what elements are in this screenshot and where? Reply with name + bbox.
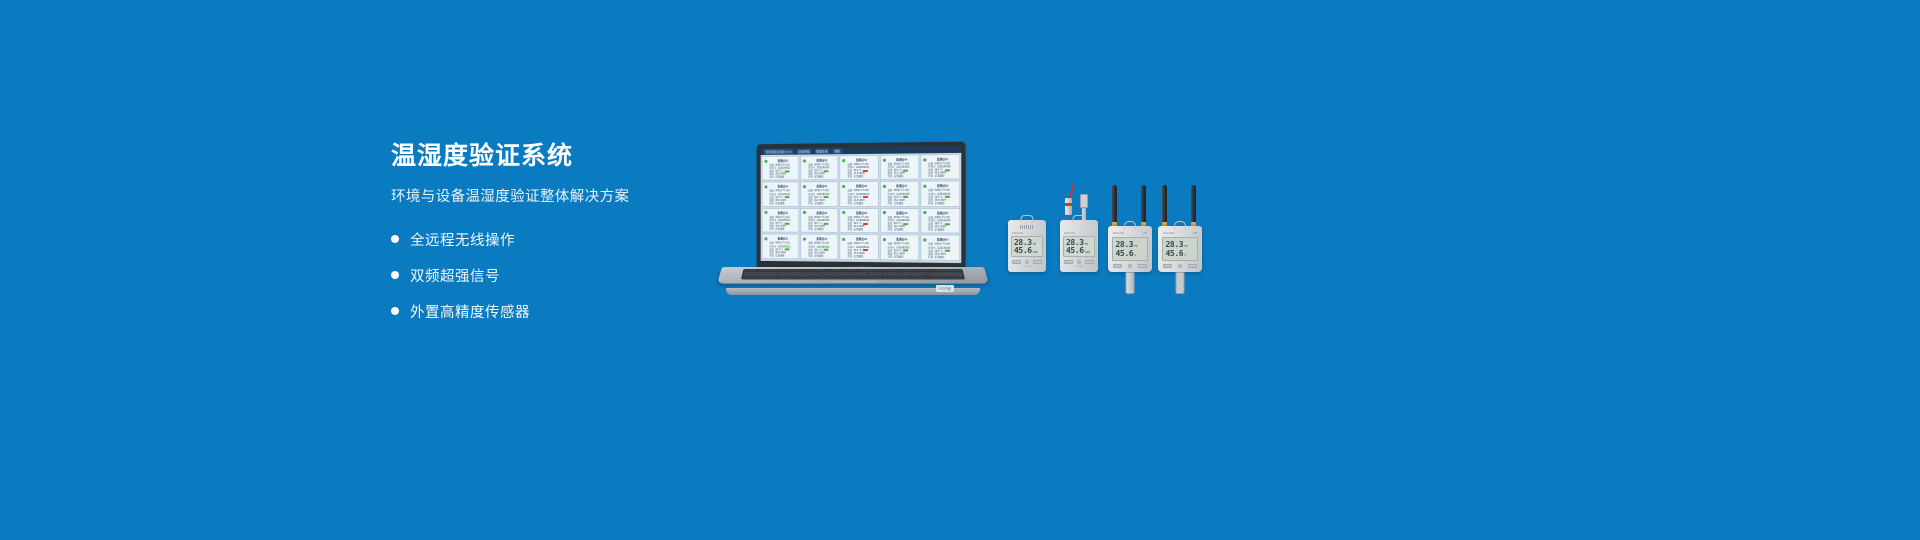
monitor-card[interactable]: 监测点03设备WS01-TY-103序列号1120180104温度29.4 ℃湿… xyxy=(840,181,879,207)
hanger-loop-icon xyxy=(1174,221,1186,230)
monitor-card-row: 状态正常通讯 xyxy=(808,176,836,179)
device-keypad[interactable] xyxy=(1011,260,1043,264)
monitor-card-row: 状态正常通讯 xyxy=(848,202,876,205)
dot-icon xyxy=(391,307,399,315)
antenna-right-icon xyxy=(1141,185,1146,225)
monitor-card-value: 正常通讯 xyxy=(854,202,863,205)
monitor-card[interactable]: 监测点02设备WS01-TY-102序列号1120180103温度28.1 ℃湿… xyxy=(800,234,838,260)
monitor-card-title: 监测点03 xyxy=(848,158,876,162)
monitor-card-row: 状态正常通讯 xyxy=(808,254,836,257)
wireless-body: ENGON HB 28.3 ℃ 45.6 % xyxy=(1108,226,1152,272)
monitor-card-title: 监测点02 xyxy=(808,185,836,189)
device-button-center[interactable] xyxy=(1178,264,1182,268)
monitor-card-row: 状态正常通讯 xyxy=(928,202,957,205)
temperature-reading: 28.3 ℃ xyxy=(1166,240,1195,249)
device-brand-left: ENGON xyxy=(1163,232,1174,235)
antenna-left-icon xyxy=(1112,185,1117,225)
monitor-card-title: 监测点02 xyxy=(808,237,836,241)
monitor-card-value: 正常通讯 xyxy=(814,254,823,257)
monitor-card-title: 监测点05 xyxy=(928,157,957,161)
status-dot-icon xyxy=(843,185,846,188)
monitor-card-title: 监测点01 xyxy=(769,237,796,241)
laptop-product-image: 温湿度验证系统 V2.0 设备管理 数据查询 报警 监测点01设备WS01-TY… xyxy=(722,143,984,298)
temperature-reading: 28.3 ℃ xyxy=(1116,240,1145,249)
humidity-value: 45.6 xyxy=(1066,247,1084,255)
device-keypad[interactable] xyxy=(1112,264,1148,268)
key[interactable] xyxy=(929,277,946,278)
external-sensor-probe xyxy=(1176,272,1185,294)
temperature-unit: ℃ xyxy=(1184,244,1187,249)
hanger-loop-icon xyxy=(1124,221,1136,230)
product-badge: PC产品 xyxy=(936,285,954,292)
monitor-card-row: 状态正常通讯 xyxy=(848,228,876,231)
monitor-card[interactable]: 监测点03设备WS01-TY-103序列号1120180104温度29.4 ℃湿… xyxy=(840,155,879,181)
monitor-card[interactable]: 监测点02设备WS01-TY-102序列号1120180103温度28.1 ℃湿… xyxy=(800,155,838,181)
monitor-card-key: 状态 xyxy=(928,175,933,178)
key[interactable] xyxy=(947,277,964,278)
logger-body: ENGON 28.3 ℃ 45.6 %RH RC-4HC xyxy=(1008,220,1046,272)
monitor-card-value: 正常通讯 xyxy=(814,202,823,205)
key[interactable] xyxy=(760,277,777,278)
monitor-card-row: 状态正常通讯 xyxy=(888,255,916,258)
device-wireless-sensor-2: ENGON HB 28.3 ℃ 45.6 % xyxy=(1158,226,1202,272)
monitor-card-value: 正常通讯 xyxy=(894,255,904,258)
monitor-card-key: 状态 xyxy=(769,254,774,257)
monitor-card-key: 状态 xyxy=(848,255,853,258)
status-dot-icon xyxy=(883,158,886,161)
humidity-unit: %RH xyxy=(1085,251,1090,255)
monitor-card-value: 正常通讯 xyxy=(854,175,863,178)
monitor-card-key: 状态 xyxy=(769,176,774,179)
status-dot-icon xyxy=(803,238,806,241)
status-dot-icon xyxy=(923,238,926,241)
monitor-card-value: 正常通讯 xyxy=(935,255,945,258)
monitor-card-row: 状态正常通讯 xyxy=(808,202,836,205)
device-data-logger-1: ENGON 28.3 ℃ 45.6 %RH RC-4HC xyxy=(1008,220,1046,272)
probe-connector xyxy=(1065,198,1072,215)
monitor-card-key: 状态 xyxy=(769,202,774,205)
monitor-card-row: 状态正常通讯 xyxy=(928,175,957,178)
monitor-card-key: 状态 xyxy=(888,202,893,205)
monitor-card-row: 状态正常通讯 xyxy=(769,176,796,179)
status-dot-icon xyxy=(843,159,846,162)
monitor-card[interactable]: 监测点02设备WS01-TY-102序列号1120180103温度28.1 ℃湿… xyxy=(800,182,838,207)
monitor-card-row: 状态正常通讯 xyxy=(888,202,916,205)
logger-body: ENGON 28.3 ℃ 45.6 %RH RC-4HC xyxy=(1060,220,1098,272)
external-sensor-probe xyxy=(1126,272,1135,294)
monitor-card-value: 正常通讯 xyxy=(935,229,945,232)
monitor-card-value: 正常通讯 xyxy=(775,202,784,205)
monitor-card[interactable]: 监测点04设备WS01-TY-104序列号1120180105温度28.6 ℃湿… xyxy=(880,235,920,261)
device-button-right[interactable] xyxy=(1138,264,1147,268)
monitor-card-value: 正常通讯 xyxy=(894,202,904,205)
monitor-card-row: 状态正常通讯 xyxy=(888,228,916,231)
device-wireless-sensor-1: ENGON HB 28.3 ℃ 45.6 % xyxy=(1108,226,1152,272)
monitor-card[interactable]: 监测点01设备WS01-TY-101序列号1120180102温度28.3 ℃湿… xyxy=(762,234,800,259)
monitor-card-grid: 监测点01设备WS01-TY-101序列号1120180102温度28.3 ℃湿… xyxy=(761,153,962,262)
monitor-card-row: 状态正常通讯 xyxy=(848,255,876,258)
status-dot-icon xyxy=(765,211,768,214)
probe-band xyxy=(1065,203,1072,206)
monitor-card-title: 监测点04 xyxy=(888,238,916,242)
laptop-lid: 温湿度验证系统 V2.0 设备管理 数据查询 报警 监测点01设备WS01-TY… xyxy=(757,142,966,273)
laptop-screen: 温湿度验证系统 V2.0 设备管理 数据查询 报警 监测点01设备WS01-TY… xyxy=(761,146,962,263)
antenna-left-icon xyxy=(1162,185,1167,225)
key-row xyxy=(742,277,964,278)
monitor-card-value: 正常通讯 xyxy=(854,228,863,231)
more-button[interactable]: 更多 xyxy=(763,261,778,263)
status-dot-icon xyxy=(923,211,926,214)
monitor-card[interactable]: 监测点04设备WS01-TY-104序列号1120180105温度28.6 ℃湿… xyxy=(880,181,920,207)
device-model: RC-4HC xyxy=(1011,266,1043,268)
status-dot-icon xyxy=(803,185,806,188)
menu-item-alarm[interactable]: 报警 xyxy=(832,148,842,154)
antenna-right-icon xyxy=(1191,185,1196,225)
monitor-card-key: 状态 xyxy=(808,228,813,231)
device-button-center[interactable] xyxy=(1025,260,1029,264)
monitor-card-row: 状态正常通讯 xyxy=(769,228,796,231)
status-dot-icon xyxy=(803,211,806,214)
status-dot-icon xyxy=(765,185,768,188)
monitor-card-key: 状态 xyxy=(928,229,933,232)
device-button-left[interactable] xyxy=(1012,260,1021,264)
monitor-card-key: 状态 xyxy=(808,176,813,179)
feature-label: 外置高精度传感器 xyxy=(410,301,530,322)
laptop-keyboard[interactable] xyxy=(741,269,965,279)
monitor-card-value: 正常通讯 xyxy=(894,175,904,178)
monitor-card-row: 状态正常通讯 xyxy=(888,175,916,178)
monitor-card[interactable]: 监测点05设备WS01-TY-105序列号1120180106温度28.9 ℃湿… xyxy=(920,235,960,261)
device-data-logger-2: ENGON 28.3 ℃ 45.6 %RH RC-4HC xyxy=(1060,220,1098,272)
monitor-card-value: 正常通讯 xyxy=(894,228,904,231)
temperature-value: 28.3 xyxy=(1116,240,1134,249)
space-key[interactable] xyxy=(794,277,911,278)
lcd-display: 28.3 ℃ 45.6 %RH xyxy=(1011,236,1043,257)
device-brand-right: HB xyxy=(1193,232,1197,235)
key[interactable] xyxy=(912,277,929,278)
feature-label: 全远程无线操作 xyxy=(410,229,515,250)
monitor-card[interactable]: 监测点04设备WS01-TY-104序列号1120180105温度28.6 ℃湿… xyxy=(880,154,920,180)
toolbar-button-group: 更多 导出数据 新增 xyxy=(763,261,817,263)
device-keypad[interactable] xyxy=(1162,264,1198,268)
device-brand: ENGON xyxy=(1011,232,1043,235)
hanger-loop-icon xyxy=(1021,215,1034,222)
temperature-value: 28.3 xyxy=(1166,240,1184,249)
status-dot-icon xyxy=(923,158,926,161)
monitor-card-value: 正常通讯 xyxy=(935,202,945,205)
monitor-card-value: 正常通讯 xyxy=(775,176,784,179)
monitor-card-key: 状态 xyxy=(769,228,774,231)
monitor-card-title: 监测点05 xyxy=(928,184,957,188)
monitor-card-title: 监测点01 xyxy=(769,211,796,215)
humidity-unit: % xyxy=(1184,253,1186,258)
device-button-right[interactable] xyxy=(1188,264,1197,268)
monitor-card[interactable]: 监测点01设备WS01-TY-101序列号1120180102温度28.3 ℃湿… xyxy=(762,208,800,233)
hanger-loop-icon xyxy=(1073,215,1086,222)
monitor-card-title: 监测点03 xyxy=(848,237,876,241)
monitor-card-row: 状态正常通讯 xyxy=(928,255,957,258)
device-button-right[interactable] xyxy=(1033,260,1042,264)
monitor-card-key: 状态 xyxy=(888,228,893,231)
humidity-reading: 45.6 % xyxy=(1116,249,1145,258)
humidity-value: 45.6 xyxy=(1014,247,1032,255)
menu-item-devices[interactable]: 设备管理 xyxy=(796,148,811,154)
wireless-body: ENGON HB 28.3 ℃ 45.6 % xyxy=(1158,226,1202,272)
device-button-left[interactable] xyxy=(1163,264,1172,268)
laptop-base: PC产品 xyxy=(722,267,984,298)
humidity-value: 45.6 xyxy=(1116,249,1134,258)
laptop-trackpad[interactable] xyxy=(827,280,879,283)
key[interactable] xyxy=(742,277,759,278)
monitor-card[interactable]: 监测点03设备WS01-TY-103序列号1120180104温度29.4 ℃湿… xyxy=(840,208,879,234)
monitor-card-value: 正常通讯 xyxy=(935,175,945,178)
status-dot-icon xyxy=(883,185,886,188)
monitor-card-title: 监测点01 xyxy=(769,159,796,163)
status-dot-icon xyxy=(765,237,768,240)
monitor-card-key: 状态 xyxy=(888,175,893,178)
key[interactable] xyxy=(777,277,794,278)
monitor-card[interactable]: 监测点04设备WS01-TY-104序列号1120180105温度28.6 ℃湿… xyxy=(880,208,920,234)
monitor-card-title: 监测点03 xyxy=(848,184,876,188)
monitor-card-row: 状态正常通讯 xyxy=(928,229,957,232)
monitor-card-key: 状态 xyxy=(808,202,813,205)
monitor-card-title: 监测点04 xyxy=(888,184,916,188)
monitor-card[interactable]: 监测点02设备WS01-TY-102序列号1120180103温度28.1 ℃湿… xyxy=(800,208,838,233)
monitor-card-row: 状态正常通讯 xyxy=(769,202,796,205)
status-dot-icon xyxy=(765,159,768,162)
device-button-left[interactable] xyxy=(1113,264,1122,268)
monitor-card-title: 监测点05 xyxy=(928,238,957,242)
monitor-card-key: 状态 xyxy=(848,202,853,205)
feature-label: 双频超强信号 xyxy=(410,265,500,286)
status-dot-icon xyxy=(843,238,846,241)
device-brand-left: ENGON xyxy=(1113,232,1124,235)
monitor-card-value: 正常通讯 xyxy=(814,176,823,179)
device-brand-row: ENGON HB xyxy=(1112,232,1148,235)
feature-item-2: 外置高精度传感器 xyxy=(391,298,811,324)
monitor-card-title: 监测点01 xyxy=(769,185,796,189)
humidity-unit: %RH xyxy=(1033,251,1038,255)
menu-item-query[interactable]: 数据查询 xyxy=(814,148,829,154)
dot-icon xyxy=(391,271,399,279)
lcd-display: 28.3 ℃ 45.6 % xyxy=(1112,237,1148,261)
device-brand: ENGON xyxy=(1063,232,1095,235)
monitor-card-row: 状态正常通讯 xyxy=(848,175,876,178)
add-button[interactable]: 新增 xyxy=(801,262,816,263)
monitor-card-title: 监测点04 xyxy=(888,211,916,215)
monitor-card-key: 状态 xyxy=(848,228,853,231)
status-dot-icon xyxy=(923,185,926,188)
monitor-card-row: 状态正常通讯 xyxy=(769,254,796,257)
monitor-card-key: 状态 xyxy=(928,202,933,205)
monitor-card-value: 正常通讯 xyxy=(775,228,784,231)
status-dot-icon xyxy=(883,211,886,214)
status-dot-icon xyxy=(803,159,806,162)
monitor-card-key: 状态 xyxy=(928,255,933,258)
monitor-card-row: 状态正常通讯 xyxy=(808,228,836,231)
monitor-card-title: 监测点02 xyxy=(808,211,836,215)
device-model: RC-4HC xyxy=(1063,266,1095,268)
dot-icon xyxy=(391,235,399,243)
monitor-card-title: 监测点05 xyxy=(928,211,957,215)
status-dot-icon xyxy=(883,238,886,241)
monitor-card[interactable]: 监测点03设备WS01-TY-103序列号1120180104温度29.4 ℃湿… xyxy=(840,234,879,260)
monitor-card-key: 状态 xyxy=(888,255,893,258)
monitor-card-value: 正常通讯 xyxy=(814,228,823,231)
humidity-unit: % xyxy=(1134,253,1136,258)
device-brand-row: ENGON HB xyxy=(1162,232,1198,235)
temperature-unit: ℃ xyxy=(1033,243,1036,247)
monitor-card[interactable]: 监测点05设备WS01-TY-105序列号1120180106温度28.9 ℃湿… xyxy=(920,208,960,234)
lcd-display: 28.3 ℃ 45.6 % xyxy=(1162,237,1198,261)
monitor-card[interactable]: 监测点05设备WS01-TY-105序列号1120180106温度28.9 ℃湿… xyxy=(920,154,960,180)
humidity-reading: 45.6 %RH xyxy=(1014,247,1040,255)
humidity-reading: 45.6 % xyxy=(1166,249,1195,258)
humidity-reading: 45.6 %RH xyxy=(1066,247,1092,255)
status-dot-icon xyxy=(843,211,846,214)
monitor-card-value: 正常通讯 xyxy=(775,254,784,257)
humidity-value: 45.6 xyxy=(1166,249,1184,258)
monitor-card-title: 监测点03 xyxy=(848,211,876,215)
temperature-unit: ℃ xyxy=(1134,244,1137,249)
monitor-card-value: 正常通讯 xyxy=(854,255,863,258)
export-button[interactable]: 导出数据 xyxy=(779,262,799,264)
monitor-card[interactable]: 监测点01设备WS01-TY-101序列号1120180102温度28.3 ℃湿… xyxy=(762,156,800,181)
monitor-card-title: 监测点02 xyxy=(808,158,836,162)
monitor-card-title: 监测点04 xyxy=(888,157,916,161)
monitor-card[interactable]: 监测点05设备WS01-TY-105序列号1120180106温度28.9 ℃湿… xyxy=(920,181,960,207)
laptop-base-front: PC产品 xyxy=(726,288,980,295)
monitor-card[interactable]: 监测点01设备WS01-TY-101序列号1120180102温度28.3 ℃湿… xyxy=(762,182,800,207)
device-button-left[interactable] xyxy=(1064,260,1073,264)
monitor-card-key: 状态 xyxy=(848,175,853,178)
device-keypad[interactable] xyxy=(1063,260,1095,264)
device-button-right[interactable] xyxy=(1085,260,1094,264)
device-button-center[interactable] xyxy=(1077,260,1081,264)
sensor-vent-icon xyxy=(1020,225,1034,229)
probe-mesh-head-icon xyxy=(1080,194,1088,208)
device-button-center[interactable] xyxy=(1128,264,1132,268)
lcd-display: 28.3 ℃ 45.6 %RH xyxy=(1063,236,1095,257)
temperature-unit: ℃ xyxy=(1085,243,1088,247)
device-brand-right: HB xyxy=(1143,232,1147,235)
laptop-base-top xyxy=(717,267,989,284)
monitor-card-key: 状态 xyxy=(808,254,813,257)
app-title: 温湿度验证系统 V2.0 xyxy=(764,148,794,154)
